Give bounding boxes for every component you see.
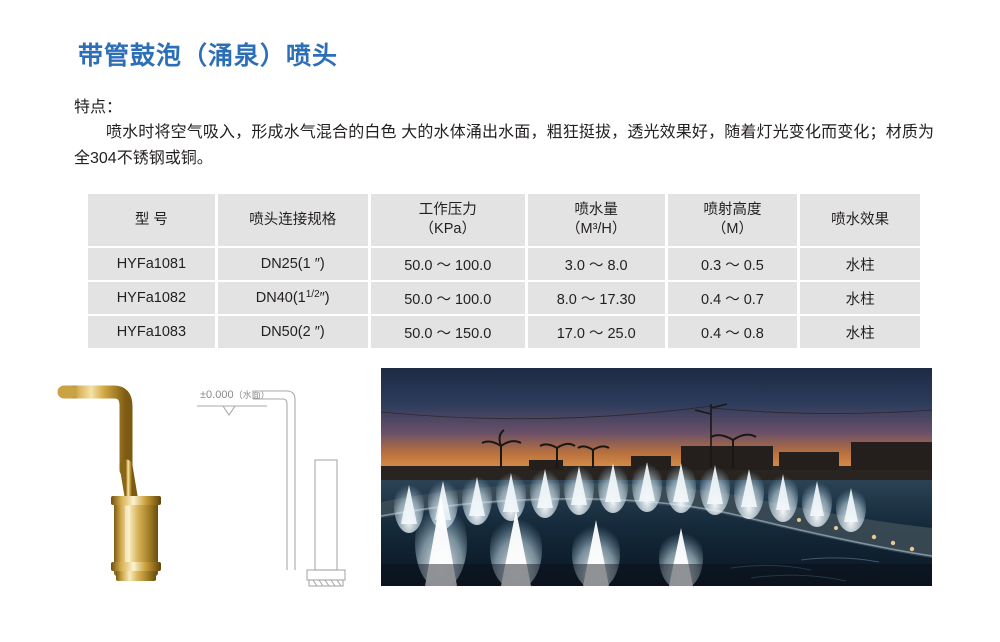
features-label: 特点： <box>74 93 122 117</box>
header-model: 型 号 <box>88 194 215 246</box>
header-connection: 喷头连接规格 <box>218 194 368 246</box>
cell-effect: 水柱 <box>800 316 920 348</box>
cell-flow-min: 3.0 <box>565 258 585 274</box>
cell-connection: DN40(11/2″) <box>218 282 368 314</box>
cell-height-min: 0.4 <box>701 292 721 308</box>
cell-flow: 17.0～25.0 <box>528 316 665 348</box>
cell-pressure: 50.0～100.0 <box>371 248 525 280</box>
cell-pressure: 50.0～100.0 <box>371 282 525 314</box>
table-row: HYFa1082 DN40(11/2″) 50.0～100.0 8.0～17.3… <box>88 282 920 314</box>
cell-effect: 水柱 <box>800 248 920 280</box>
cell-height-max: 0.7 <box>744 292 764 308</box>
cell-height-min: 0.4 <box>701 326 721 342</box>
cell-height: 0.4～0.7 <box>668 282 798 314</box>
header-flow-line1: 喷水量 <box>528 201 665 220</box>
range-tilde: ～ <box>432 292 455 308</box>
cell-connection-post: ″) <box>320 290 330 306</box>
cell-flow-max: 8.0 <box>607 258 627 274</box>
cell-height-max: 0.8 <box>744 326 764 342</box>
cell-model: HYFa1083 <box>88 316 215 348</box>
header-effect-line1: 喷水效果 <box>800 211 920 230</box>
cell-pressure-max: 100.0 <box>455 258 491 274</box>
table-header-row: 型 号 喷头连接规格 工作压力 （KPa） 喷水量 （M³/H） 喷射高度 （M… <box>88 194 920 246</box>
spec-table: 型 号 喷头连接规格 工作压力 （KPa） 喷水量 （M³/H） 喷射高度 （M… <box>85 192 923 350</box>
cell-pressure: 50.0～150.0 <box>371 316 525 348</box>
range-tilde: ～ <box>585 326 608 342</box>
cell-flow-min: 17.0 <box>557 326 585 342</box>
cell-model: HYFa1081 <box>88 248 215 280</box>
cell-flow-min: 8.0 <box>557 292 577 308</box>
range-tilde: ～ <box>577 292 600 308</box>
cell-model: HYFa1082 <box>88 282 215 314</box>
cell-pressure-min: 50.0 <box>404 258 432 274</box>
cell-pressure-min: 50.0 <box>404 326 432 342</box>
range-tilde: ～ <box>432 258 455 274</box>
installation-line-drawing <box>195 374 370 599</box>
nozzle-tube <box>68 392 126 470</box>
cell-connection: DN25(1 ″) <box>218 248 368 280</box>
cell-pressure-max: 150.0 <box>455 326 491 342</box>
header-connection-line1: 喷头连接规格 <box>218 211 368 230</box>
header-pressure-line1: 工作压力 <box>371 201 525 220</box>
header-flow-line2: （M³/H） <box>528 220 665 239</box>
cell-connection-pre: DN40(1 <box>256 290 306 306</box>
header-pressure-line2: （KPa） <box>371 220 525 239</box>
nozzle-ring-bottom <box>111 562 161 571</box>
cell-pressure-min: 50.0 <box>404 292 432 308</box>
range-tilde: ～ <box>721 258 744 274</box>
nozzle-base <box>116 571 156 581</box>
page-title: 带管鼓泡（涌泉）喷头 <box>78 36 338 72</box>
cell-flow: 3.0～8.0 <box>528 248 665 280</box>
header-height: 喷射高度 （M） <box>668 194 798 246</box>
header-height-line1: 喷射高度 <box>668 201 798 220</box>
figure-row: ±0.000（水面） <box>0 366 1000 606</box>
range-tilde: ～ <box>721 326 744 342</box>
range-tilde: ～ <box>721 292 744 308</box>
cell-height-min: 0.3 <box>701 258 721 274</box>
table-row: HYFa1081 DN25(1 ″) 50.0～100.0 3.0～8.0 0.… <box>88 248 920 280</box>
cell-flow-max: 17.30 <box>599 292 635 308</box>
header-model-line1: 型 号 <box>88 211 215 230</box>
features-body: 喷水时将空气吸入，形成水气混合的白色 大的水体涌出水面，粗狂挺拔，透光效果好，随… <box>74 120 934 172</box>
header-effect: 喷水效果 <box>800 194 920 246</box>
cell-connection: DN50(2 ″) <box>218 316 368 348</box>
range-tilde: ～ <box>432 326 455 342</box>
cell-height: 0.3～0.5 <box>668 248 798 280</box>
cell-height-max: 0.5 <box>744 258 764 274</box>
cell-effect: 水柱 <box>800 282 920 314</box>
header-flow: 喷水量 （M³/H） <box>528 194 665 246</box>
cell-connection-fraction: 1/2 <box>306 290 320 300</box>
cell-flow-max: 25.0 <box>607 326 635 342</box>
cell-pressure-max: 100.0 <box>455 292 491 308</box>
nozzle-product-photo <box>40 366 200 596</box>
nozzle-ring-top <box>111 496 161 505</box>
fountain-night-photo <box>381 368 932 586</box>
header-pressure: 工作压力 （KPa） <box>371 194 525 246</box>
waterline-triangle <box>223 406 235 415</box>
cell-flow: 8.0～17.30 <box>528 282 665 314</box>
header-height-line2: （M） <box>668 220 798 239</box>
table-row: HYFa1083 DN50(2 ″) 50.0～150.0 17.0～25.0 … <box>88 316 920 348</box>
cell-height: 0.4～0.8 <box>668 316 798 348</box>
range-tilde: ～ <box>585 258 608 274</box>
